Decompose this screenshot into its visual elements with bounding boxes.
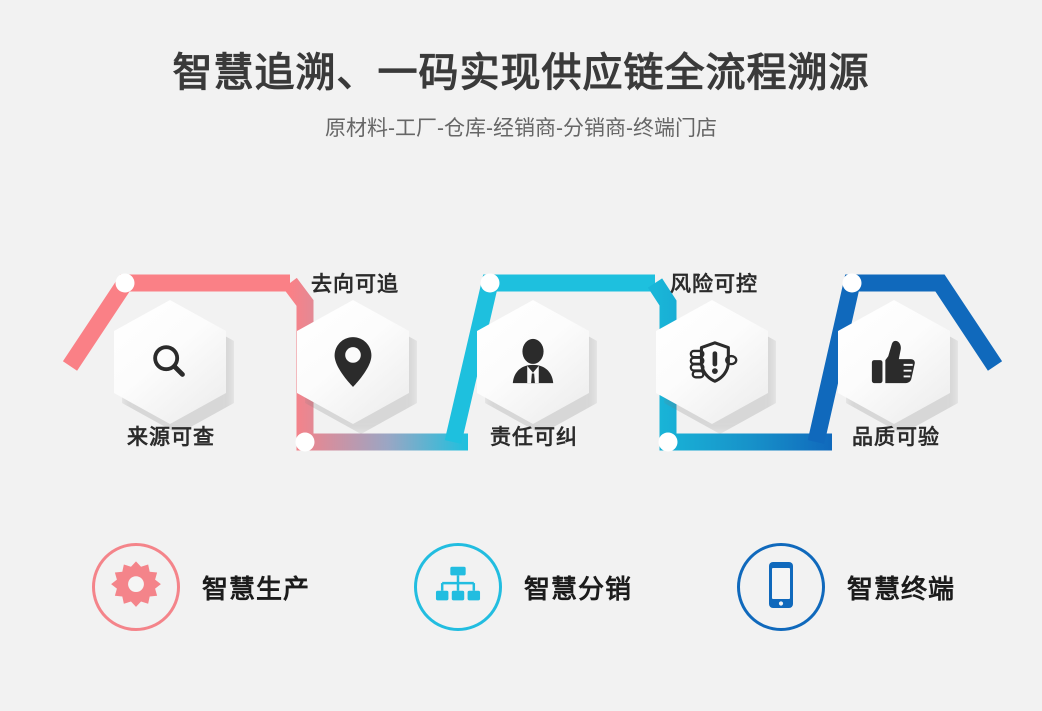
feature-circle-distribution xyxy=(414,543,502,631)
chain-label-risk: 风险可控 xyxy=(614,272,814,298)
chain-node-dot-peak-2 xyxy=(481,274,500,293)
chain-node-destination[interactable] xyxy=(297,300,421,436)
shield-hand-icon xyxy=(685,337,739,387)
feature-circle-terminal xyxy=(737,543,825,631)
header: 智慧追溯、一码实现供应链全流程溯源 原材料-工厂-仓库-经销商-分销商-终端门店 xyxy=(0,46,1042,146)
magnifier-icon xyxy=(147,339,193,385)
feature-production[interactable]: 智慧生产 xyxy=(92,537,310,637)
feature-distribution[interactable]: 智慧分销 xyxy=(414,537,632,637)
feature-terminal[interactable]: 智慧终端 xyxy=(737,537,955,637)
page-subtitle: 原材料-工厂-仓库-经销商-分销商-终端门店 xyxy=(0,112,1042,146)
location-pin-icon xyxy=(332,336,374,388)
smartphone-icon xyxy=(764,560,798,615)
chain-label-quality: 品质可验 xyxy=(796,425,996,451)
feature-circle-production xyxy=(92,543,180,631)
chain-node-risk[interactable] xyxy=(656,300,780,436)
chain-node-source[interactable] xyxy=(114,300,238,436)
page-title: 智慧追溯、一码实现供应链全流程溯源 xyxy=(0,46,1042,100)
chain-node-responsibility[interactable] xyxy=(477,300,601,436)
chain-node-dot-peak-1 xyxy=(116,274,135,293)
feature-label-distribution: 智慧分销 xyxy=(524,569,632,606)
chain-label-source: 来源可查 xyxy=(71,425,271,451)
businessman-icon xyxy=(508,337,558,387)
chain-node-quality[interactable] xyxy=(838,300,962,436)
feature-label-terminal: 智慧终端 xyxy=(847,569,955,606)
feature-row: 智慧生产 智慧 xyxy=(0,531,1042,661)
chain-node-dot-peak-3 xyxy=(843,274,862,293)
gear-icon xyxy=(109,558,163,617)
feature-label-production: 智慧生产 xyxy=(202,569,310,606)
thumbs-up-icon xyxy=(869,337,919,387)
infographic-canvas: 智慧追溯、一码实现供应链全流程溯源 原材料-工厂-仓库-经销商-分销商-终端门店 xyxy=(0,0,1042,711)
chain-label-destination: 去向可追 xyxy=(255,272,455,298)
org-chart-icon xyxy=(433,562,483,613)
chain-label-responsibility: 责任可纠 xyxy=(434,425,634,451)
